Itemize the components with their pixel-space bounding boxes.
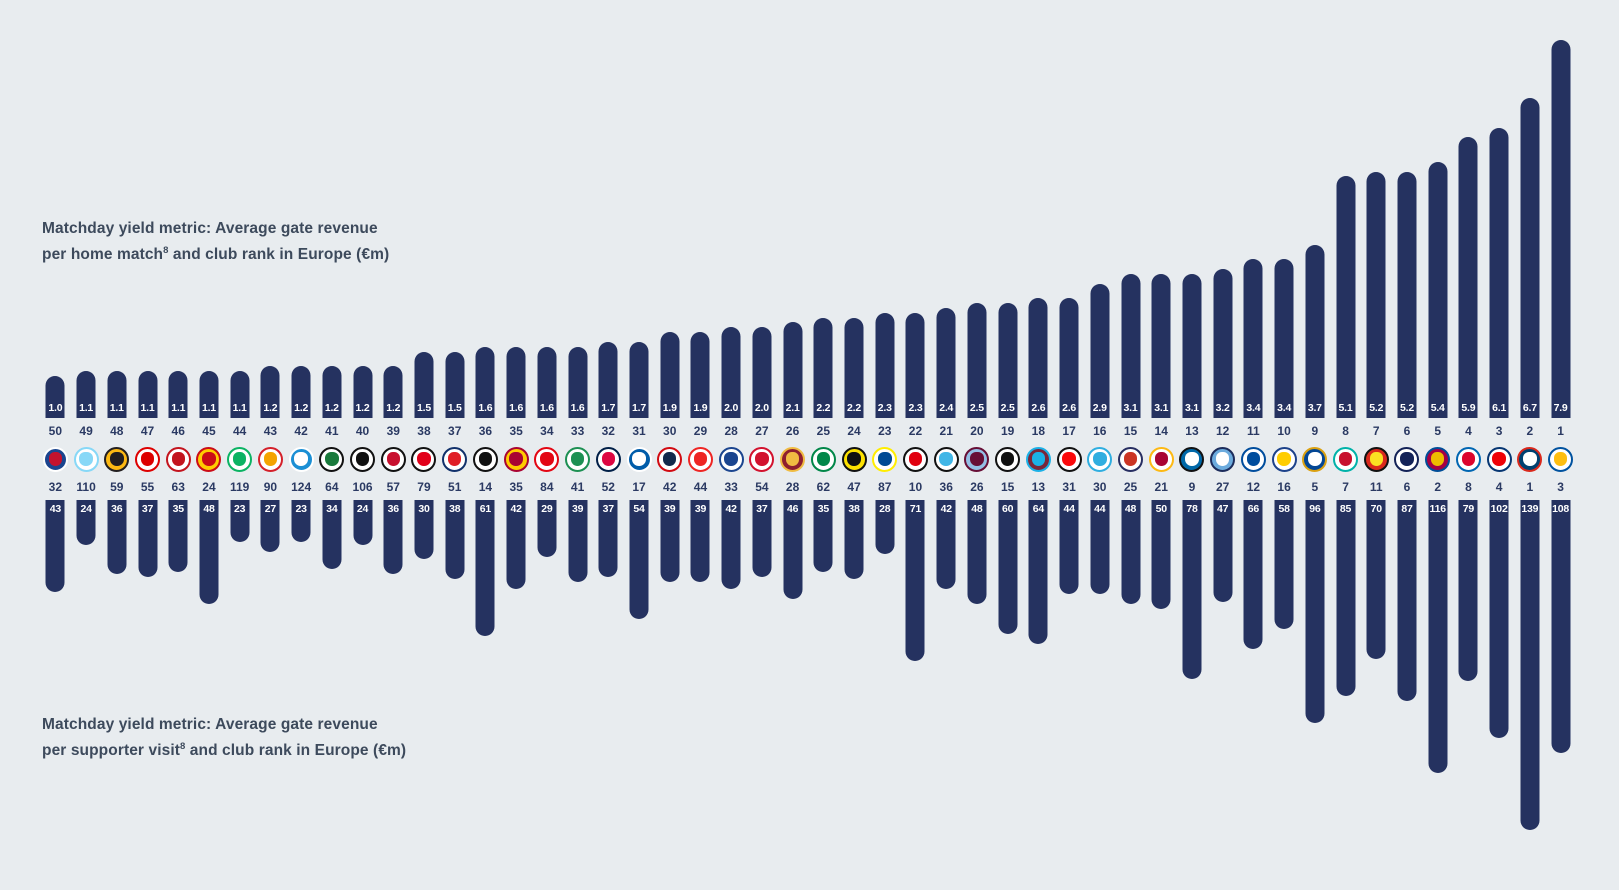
club-crest-cell[interactable] (163, 444, 194, 474)
club-crest-icon[interactable] (319, 447, 344, 472)
gate-revenue-per-visit-bar[interactable]: 39 (660, 500, 679, 582)
europe-rank-gate-per-match: 24 (839, 418, 870, 444)
club-crest-icon[interactable] (1179, 447, 1204, 472)
gate-revenue-per-match-bar[interactable]: 1.2 (292, 366, 311, 418)
club-column[interactable]: 1.7311754 (624, 0, 655, 890)
club-column[interactable]: 2.0275437 (747, 0, 778, 890)
club-crest-icon[interactable] (688, 447, 713, 472)
club-crest-cell[interactable] (101, 444, 132, 474)
club-crest-cell[interactable] (378, 444, 409, 474)
gate-revenue-per-match-bar[interactable]: 1.0 (46, 376, 65, 418)
top-bar-zone: 3.7 (1299, 0, 1330, 418)
club-crest-icon[interactable] (1548, 447, 1573, 472)
club-crest-cell[interactable] (1177, 444, 1208, 474)
gate-revenue-per-visit-bar[interactable]: 108 (1551, 500, 1570, 753)
gate-revenue-per-match-bar[interactable]: 1.1 (230, 371, 249, 418)
club-crest-icon[interactable] (627, 447, 652, 472)
gate-revenue-per-match-bar[interactable]: 1.6 (507, 347, 526, 418)
club-crest-icon[interactable] (1210, 447, 1235, 472)
club-crest-icon[interactable] (719, 447, 744, 472)
europe-rank-gate-per-match: 3 (1484, 418, 1515, 444)
gate-revenue-per-match-bar[interactable]: 2.0 (752, 327, 771, 418)
gate-revenue-per-match-value: 2.9 (1090, 402, 1109, 414)
gate-revenue-per-match-bar[interactable]: 5.2 (1397, 172, 1416, 419)
club-column[interactable]: 1.9294439 (685, 0, 716, 890)
gate-revenue-per-match-bar[interactable]: 2.4 (937, 308, 956, 418)
club-column[interactable]: 3.2122747 (1207, 0, 1238, 890)
top-bar-zone: 1.5 (409, 0, 440, 418)
club-crest-cell[interactable] (1392, 444, 1423, 474)
gate-revenue-per-match-bar[interactable]: 2.5 (998, 303, 1017, 418)
gate-revenue-per-visit-value: 48 (199, 503, 218, 515)
club-column[interactable]: 5.452116 (1422, 0, 1453, 890)
gate-revenue-per-visit-bar[interactable]: 71 (906, 500, 925, 661)
club-crest-cell[interactable] (1084, 444, 1115, 474)
gate-revenue-per-match-bar[interactable]: 3.4 (1275, 259, 1294, 418)
club-crest-cell[interactable] (562, 444, 593, 474)
club-column[interactable]: 1.24212423 (286, 0, 317, 890)
club-crest-icon[interactable] (381, 447, 406, 472)
club-crest-cell[interactable] (40, 444, 71, 474)
gate-revenue-per-match-bar[interactable]: 3.7 (1305, 245, 1324, 419)
gate-revenue-per-visit-bar[interactable]: 64 (1029, 500, 1048, 644)
gate-revenue-per-match-bar[interactable]: 1.5 (414, 352, 433, 418)
gate-revenue-per-visit-value: 108 (1551, 503, 1570, 515)
gate-revenue-per-visit-bar[interactable]: 23 (230, 500, 249, 542)
club-column[interactable]: 1.1452448 (194, 0, 225, 890)
club-column[interactable]: 1.2439027 (255, 0, 286, 890)
club-crest-icon[interactable] (1487, 447, 1512, 472)
club-crest-icon[interactable] (872, 447, 897, 472)
gate-revenue-per-visit-bar[interactable]: 37 (138, 500, 157, 577)
club-crest-icon[interactable] (1272, 447, 1297, 472)
europe-rank-per-supporter-visit: 52 (593, 474, 624, 500)
club-crest-icon[interactable] (657, 447, 682, 472)
club-crest-cell[interactable] (747, 444, 778, 474)
club-crest-cell[interactable] (1330, 444, 1361, 474)
gate-revenue-per-match-bar[interactable]: 1.2 (353, 366, 372, 418)
gate-revenue-per-match-bar[interactable]: 5.2 (1367, 172, 1386, 419)
gate-revenue-per-match-bar[interactable]: 2.2 (814, 318, 833, 418)
club-crest-icon[interactable] (1087, 447, 1112, 472)
club-crest-icon[interactable] (749, 447, 774, 472)
gate-revenue-per-visit-bar[interactable]: 48 (199, 500, 218, 604)
club-crest-icon[interactable] (1118, 447, 1143, 472)
club-column[interactable]: 3.4111266 (1238, 0, 1269, 890)
club-crest-cell[interactable] (1146, 444, 1177, 474)
bottom-bar-zone: 30 (409, 500, 440, 890)
club-crest-icon[interactable] (473, 447, 498, 472)
club-column[interactable]: 1.6348429 (532, 0, 563, 890)
gate-revenue-per-visit-bar[interactable]: 29 (537, 500, 556, 557)
gate-revenue-per-match-bar[interactable]: 1.5 (445, 352, 464, 418)
europe-rank-per-supporter-visit: 106 (347, 474, 378, 500)
gate-revenue-per-visit-bar[interactable]: 24 (353, 500, 372, 545)
club-crest-cell[interactable] (316, 444, 347, 474)
club-crest-cell[interactable] (1361, 444, 1392, 474)
club-crest-cell[interactable] (1484, 444, 1515, 474)
club-column[interactable]: 1.0503243 (40, 0, 71, 890)
club-crest-cell[interactable] (470, 444, 501, 474)
club-crest-icon[interactable] (534, 447, 559, 472)
club-crest-cell[interactable] (1545, 444, 1576, 474)
gate-revenue-per-visit-bar[interactable]: 70 (1367, 500, 1386, 659)
club-column[interactable]: 1.6361461 (470, 0, 501, 890)
club-crest-cell[interactable] (808, 444, 839, 474)
club-column[interactable]: 2.2244738 (839, 0, 870, 890)
club-crest-icon[interactable] (350, 447, 375, 472)
club-crest-cell[interactable] (439, 444, 470, 474)
club-crest-icon[interactable] (74, 447, 99, 472)
club-column[interactable]: 1.6334139 (562, 0, 593, 890)
club-crest-icon[interactable] (166, 447, 191, 472)
club-crest-icon[interactable] (411, 447, 436, 472)
gate-revenue-per-match-bar[interactable]: 2.6 (1029, 298, 1048, 418)
gate-revenue-per-visit-value: 39 (691, 503, 710, 515)
club-crest-icon[interactable] (135, 447, 160, 472)
gate-revenue-per-visit-bar[interactable]: 37 (599, 500, 618, 577)
gate-revenue-per-visit-bar[interactable]: 43 (46, 500, 65, 592)
gate-revenue-per-visit-bar[interactable]: 28 (875, 500, 894, 554)
club-column[interactable]: 2.9163044 (1084, 0, 1115, 890)
club-crest-icon[interactable] (104, 447, 129, 472)
gate-revenue-per-visit-bar[interactable]: 24 (77, 500, 96, 545)
club-crest-icon[interactable] (780, 447, 805, 472)
club-crest-emblem (294, 452, 307, 465)
europe-rank-per-supporter-visit: 51 (439, 474, 470, 500)
club-crest-icon[interactable] (1517, 447, 1542, 472)
club-column[interactable]: 6.134102 (1484, 0, 1515, 890)
gate-revenue-per-match-bar[interactable]: 1.7 (630, 342, 649, 418)
club-column[interactable]: 1.2416434 (316, 0, 347, 890)
gate-revenue-per-match-bar[interactable]: 1.6 (568, 347, 587, 418)
club-crest-cell[interactable] (1515, 444, 1546, 474)
club-column[interactable]: 2.4213642 (931, 0, 962, 890)
gate-revenue-per-visit-bar[interactable]: 42 (937, 500, 956, 589)
gate-revenue-per-visit-bar[interactable]: 87 (1397, 500, 1416, 701)
gate-revenue-per-visit-bar[interactable]: 23 (292, 500, 311, 542)
europe-rank-per-supporter-visit: 24 (194, 474, 225, 500)
club-column[interactable]: 2.6173144 (1054, 0, 1085, 890)
club-column[interactable]: 1.1485936 (101, 0, 132, 890)
top-bar-zone: 2.6 (1023, 0, 1054, 418)
club-crest-icon[interactable] (1026, 447, 1051, 472)
gate-revenue-per-match-bar[interactable]: 1.2 (261, 366, 280, 418)
europe-rank-per-supporter-visit: 31 (1054, 474, 1085, 500)
gate-revenue-per-visit-value: 23 (292, 503, 311, 515)
gate-revenue-per-visit-bar[interactable]: 39 (691, 500, 710, 582)
club-crest-cell[interactable] (593, 444, 624, 474)
club-column[interactable]: 1.1475537 (132, 0, 163, 890)
club-column[interactable]: 2.5202648 (962, 0, 993, 890)
gate-revenue-per-match-bar[interactable]: 1.2 (384, 366, 403, 418)
club-crest-cell[interactable] (654, 444, 685, 474)
club-crest-cell[interactable] (962, 444, 993, 474)
club-column[interactable]: 1.1466335 (163, 0, 194, 890)
club-crest-cell[interactable] (839, 444, 870, 474)
gate-revenue-per-visit-bar[interactable]: 38 (845, 500, 864, 579)
gate-revenue-per-visit-bar[interactable]: 36 (107, 500, 126, 574)
club-column[interactable]: 1.2395736 (378, 0, 409, 890)
gate-revenue-per-visit-bar[interactable]: 58 (1275, 500, 1294, 629)
bottom-bar-zone: 39 (685, 500, 716, 890)
club-column[interactable]: 6.721139 (1515, 0, 1546, 890)
gate-revenue-per-match-bar[interactable]: 3.1 (1152, 274, 1171, 418)
gate-revenue-per-match-value: 5.2 (1397, 402, 1416, 414)
club-column[interactable]: 5.271170 (1361, 0, 1392, 890)
gate-revenue-per-visit-bar[interactable]: 44 (1090, 500, 1109, 594)
club-crest-icon[interactable] (196, 447, 221, 472)
europe-rank-gate-per-match: 47 (132, 418, 163, 444)
club-column[interactable]: 2.1262846 (777, 0, 808, 890)
club-column[interactable]: 3.79596 (1299, 0, 1330, 890)
gate-revenue-per-match-bar[interactable]: 7.9 (1551, 40, 1570, 418)
gate-revenue-per-visit-bar[interactable]: 35 (169, 500, 188, 572)
gate-revenue-per-match-value: 2.5 (967, 402, 986, 414)
club-crest-cell[interactable] (1422, 444, 1453, 474)
gate-revenue-per-visit-value: 46 (783, 503, 802, 515)
gate-revenue-per-match-bar[interactable]: 1.1 (169, 371, 188, 418)
gate-revenue-per-match-bar[interactable]: 1.1 (199, 371, 218, 418)
gate-revenue-per-visit-bar[interactable]: 54 (630, 500, 649, 619)
club-column[interactable]: 1.7325237 (593, 0, 624, 890)
europe-rank-gate-per-match: 35 (501, 418, 532, 444)
club-crest-cell[interactable] (869, 444, 900, 474)
gate-revenue-per-visit-bar[interactable]: 42 (507, 500, 526, 589)
club-crest-cell[interactable] (1238, 444, 1269, 474)
club-crest-cell[interactable] (624, 444, 655, 474)
club-crest-cell[interactable] (777, 444, 808, 474)
gate-revenue-per-match-bar[interactable]: 3.1 (1182, 274, 1201, 418)
club-column[interactable]: 3.1152548 (1115, 0, 1146, 890)
club-column[interactable]: 2.3221071 (900, 0, 931, 890)
gate-revenue-per-match-bar[interactable]: 1.6 (537, 347, 556, 418)
gate-revenue-per-match-bar[interactable]: 2.0 (722, 327, 741, 418)
club-crest-icon[interactable] (43, 447, 68, 472)
club-column[interactable]: 2.3238728 (869, 0, 900, 890)
gate-revenue-per-match-bar[interactable]: 6.1 (1490, 128, 1509, 418)
gate-revenue-per-match-bar[interactable]: 3.2 (1213, 269, 1232, 418)
club-crest-icon[interactable] (1456, 447, 1481, 472)
gate-revenue-per-visit-bar[interactable]: 42 (722, 500, 741, 589)
gate-revenue-per-match-bar[interactable]: 5.1 (1336, 176, 1355, 418)
club-crest-cell[interactable] (900, 444, 931, 474)
gate-revenue-per-visit-bar[interactable]: 47 (1213, 500, 1232, 602)
gate-revenue-per-visit-value: 58 (1275, 503, 1294, 515)
gate-revenue-per-match-value: 2.2 (814, 402, 833, 414)
gate-revenue-per-visit-bar[interactable]: 96 (1305, 500, 1324, 723)
club-crest-cell[interactable] (1453, 444, 1484, 474)
gate-revenue-per-match-bar[interactable]: 1.1 (107, 371, 126, 418)
gate-revenue-per-match-bar[interactable]: 5.4 (1428, 162, 1447, 418)
gate-revenue-per-match-value: 2.1 (783, 402, 802, 414)
gate-revenue-per-match-bar[interactable]: 1.1 (77, 371, 96, 418)
club-crest-icon[interactable] (964, 447, 989, 472)
gate-revenue-per-visit-bar[interactable]: 85 (1336, 500, 1355, 696)
gate-revenue-per-match-value: 1.2 (261, 402, 280, 414)
gate-revenue-per-visit-bar[interactable]: 46 (783, 500, 802, 599)
club-crest-cell[interactable] (347, 444, 378, 474)
gate-revenue-per-match-bar[interactable]: 2.3 (875, 313, 894, 418)
club-column[interactable]: 1.5387930 (409, 0, 440, 890)
club-crest-emblem (202, 452, 215, 465)
gate-revenue-per-match-bar[interactable]: 1.6 (476, 347, 495, 418)
bottom-bar-zone: 96 (1299, 500, 1330, 890)
club-column[interactable]: 2.5191560 (992, 0, 1023, 890)
club-column[interactable]: 5.94879 (1453, 0, 1484, 890)
club-crest-cell[interactable] (71, 444, 102, 474)
gate-revenue-per-match-bar[interactable]: 2.5 (967, 303, 986, 418)
gate-revenue-per-visit-bar[interactable]: 38 (445, 500, 464, 579)
club-column[interactable]: 5.18785 (1330, 0, 1361, 890)
club-crest-icon[interactable] (903, 447, 928, 472)
gate-revenue-per-match-value: 3.1 (1182, 402, 1201, 414)
club-crest-cell[interactable] (1269, 444, 1300, 474)
club-column[interactable]: 1.9304239 (654, 0, 685, 890)
club-column[interactable]: 1.14411923 (224, 0, 255, 890)
gate-revenue-per-visit-bar[interactable]: 36 (384, 500, 403, 574)
club-column[interactable]: 7.913108 (1545, 0, 1576, 890)
gate-revenue-per-match-bar[interactable]: 5.9 (1459, 137, 1478, 418)
club-crest-emblem (786, 452, 799, 465)
gate-revenue-per-visit-value: 34 (322, 503, 341, 515)
gate-revenue-per-visit-bar[interactable]: 61 (476, 500, 495, 636)
gate-revenue-per-visit-bar[interactable]: 116 (1428, 500, 1447, 773)
club-crest-cell[interactable] (194, 444, 225, 474)
club-column[interactable]: 3.1142150 (1146, 0, 1177, 890)
europe-rank-gate-per-match: 21 (931, 418, 962, 444)
club-column[interactable]: 2.6181364 (1023, 0, 1054, 890)
club-crest-emblem (939, 452, 952, 465)
club-crest-cell[interactable] (685, 444, 716, 474)
club-crest-cell[interactable] (532, 444, 563, 474)
club-crest-cell[interactable] (992, 444, 1023, 474)
gate-revenue-per-visit-bar[interactable]: 102 (1490, 500, 1509, 738)
gate-revenue-per-visit-bar[interactable]: 79 (1459, 500, 1478, 681)
europe-rank-gate-per-match: 43 (255, 418, 286, 444)
gate-revenue-per-match-bar[interactable]: 1.9 (691, 332, 710, 418)
club-crest-cell[interactable] (1115, 444, 1146, 474)
gate-revenue-per-visit-bar[interactable]: 44 (1060, 500, 1079, 594)
club-crest-icon[interactable] (565, 447, 590, 472)
club-crest-icon[interactable] (811, 447, 836, 472)
club-crest-icon[interactable] (258, 447, 283, 472)
club-crest-icon[interactable] (442, 447, 467, 472)
bottom-bar-zone: 48 (1115, 500, 1146, 890)
club-crest-icon[interactable] (596, 447, 621, 472)
club-crest-cell[interactable] (501, 444, 532, 474)
gate-revenue-per-visit-bar[interactable]: 39 (568, 500, 587, 582)
club-crest-icon[interactable] (1364, 447, 1389, 472)
gate-revenue-per-visit-bar[interactable]: 37 (752, 500, 771, 577)
club-column[interactable]: 1.24010624 (347, 0, 378, 890)
gate-revenue-per-visit-bar[interactable]: 34 (322, 500, 341, 569)
gate-revenue-per-visit-value: 39 (660, 503, 679, 515)
club-crest-icon[interactable] (934, 447, 959, 472)
club-crest-emblem (878, 452, 891, 465)
gate-revenue-per-match-bar[interactable]: 1.1 (138, 371, 157, 418)
club-crest-cell[interactable] (132, 444, 163, 474)
gate-revenue-per-visit-bar[interactable]: 30 (414, 500, 433, 559)
club-crest-cell[interactable] (409, 444, 440, 474)
gate-revenue-per-visit-bar[interactable]: 60 (998, 500, 1017, 634)
gate-revenue-per-visit-bar[interactable]: 139 (1520, 500, 1539, 830)
gate-revenue-per-visit-value: 28 (875, 503, 894, 515)
club-crest-emblem (172, 452, 185, 465)
top-bar-zone: 2.3 (900, 0, 931, 418)
club-crest-icon[interactable] (289, 447, 314, 472)
club-column[interactable]: 1.14911024 (71, 0, 102, 890)
gate-revenue-per-visit-bar[interactable]: 48 (1121, 500, 1140, 604)
gate-revenue-per-match-bar[interactable]: 2.6 (1060, 298, 1079, 418)
club-crest-icon[interactable] (1425, 447, 1450, 472)
club-crest-cell[interactable] (716, 444, 747, 474)
gate-revenue-per-match-bar[interactable]: 3.4 (1244, 259, 1263, 418)
europe-rank-per-supporter-visit: 59 (101, 474, 132, 500)
gate-revenue-per-match-bar[interactable]: 2.1 (783, 322, 802, 418)
club-crest-icon[interactable] (1333, 447, 1358, 472)
gate-revenue-per-visit-bar[interactable]: 48 (967, 500, 986, 604)
club-crest-icon[interactable] (1394, 447, 1419, 472)
club-column[interactable]: 3.4101658 (1269, 0, 1300, 890)
club-crest-cell[interactable] (224, 444, 255, 474)
club-crest-cell[interactable] (1054, 444, 1085, 474)
club-crest-icon[interactable] (1302, 447, 1327, 472)
club-crest-icon[interactable] (1057, 447, 1082, 472)
club-crest-cell[interactable] (1299, 444, 1330, 474)
club-crest-icon[interactable] (995, 447, 1020, 472)
gate-revenue-per-visit-bar[interactable]: 50 (1152, 500, 1171, 609)
europe-rank-gate-per-match: 22 (900, 418, 931, 444)
gate-revenue-per-visit-bar[interactable]: 66 (1244, 500, 1263, 649)
club-crest-icon[interactable] (504, 447, 529, 472)
club-column[interactable]: 2.2256235 (808, 0, 839, 890)
gate-revenue-per-match-bar[interactable]: 2.9 (1090, 284, 1109, 419)
club-crest-icon[interactable] (1149, 447, 1174, 472)
gate-revenue-per-match-bar[interactable]: 3.1 (1121, 274, 1140, 418)
club-column[interactable]: 2.0283342 (716, 0, 747, 890)
gate-revenue-per-visit-bar[interactable]: 78 (1182, 500, 1201, 679)
gate-revenue-per-visit-bar[interactable]: 27 (261, 500, 280, 552)
gate-revenue-per-match-bar[interactable]: 1.9 (660, 332, 679, 418)
club-crest-cell[interactable] (286, 444, 317, 474)
bottom-bar-zone: 23 (286, 500, 317, 890)
club-crest-emblem (1001, 452, 1014, 465)
club-column[interactable]: 1.6353542 (501, 0, 532, 890)
club-column[interactable]: 5.26687 (1392, 0, 1423, 890)
club-crest-cell[interactable] (1023, 444, 1054, 474)
gate-revenue-per-visit-bar[interactable]: 35 (814, 500, 833, 572)
club-crest-cell[interactable] (255, 444, 286, 474)
club-crest-cell[interactable] (931, 444, 962, 474)
gate-revenue-per-match-bar[interactable]: 2.2 (845, 318, 864, 418)
club-crest-emblem (602, 452, 615, 465)
club-column[interactable]: 3.113978 (1177, 0, 1208, 890)
gate-revenue-per-match-value: 3.4 (1244, 402, 1263, 414)
club-crest-cell[interactable] (1207, 444, 1238, 474)
club-crest-icon[interactable] (1241, 447, 1266, 472)
club-crest-emblem (233, 452, 246, 465)
club-crest-emblem (1431, 452, 1444, 465)
europe-rank-per-supporter-visit: 42 (654, 474, 685, 500)
gate-revenue-per-match-bar[interactable]: 1.7 (599, 342, 618, 418)
club-crest-icon[interactable] (842, 447, 867, 472)
gate-revenue-per-match-bar[interactable]: 2.3 (906, 313, 925, 418)
club-crest-icon[interactable] (227, 447, 252, 472)
gate-revenue-per-match-bar[interactable]: 1.2 (322, 366, 341, 418)
club-column[interactable]: 1.5375138 (439, 0, 470, 890)
gate-revenue-per-match-bar[interactable]: 6.7 (1520, 98, 1539, 418)
